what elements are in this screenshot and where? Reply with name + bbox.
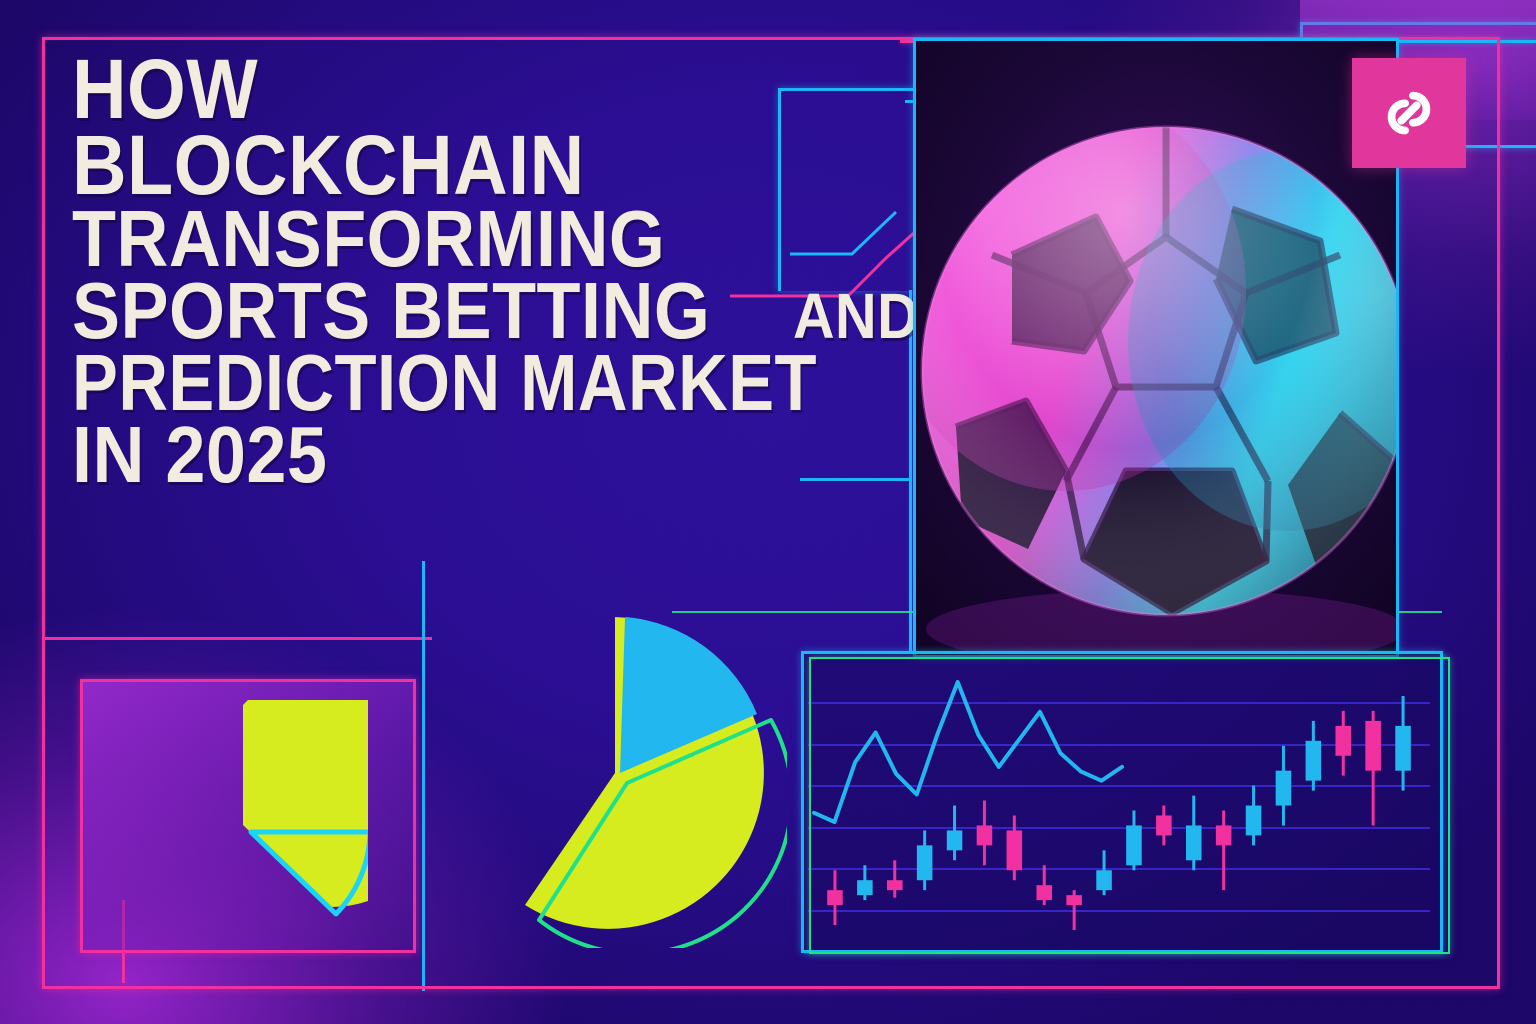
page-title: HOW BLOCKCHAIN TRANSFORMING SPORTS BETTI… bbox=[72, 52, 872, 491]
headline-line-3: TRANSFORMING bbox=[72, 203, 872, 275]
soccer-ball-icon bbox=[916, 41, 1396, 655]
headline-line-1: HOW bbox=[72, 52, 872, 128]
headline-line-4: SPORTS BETTINGAND bbox=[72, 275, 872, 347]
poster-canvas: HOW BLOCKCHAIN TRANSFORMING SPORTS BETTI… bbox=[0, 0, 1536, 1024]
headline-line-6: IN 2025 bbox=[72, 419, 872, 491]
hero-image-panel bbox=[913, 38, 1399, 658]
link-badge[interactable] bbox=[1352, 58, 1466, 168]
pie-small-chart bbox=[118, 700, 368, 950]
candlestick-chart bbox=[804, 654, 1434, 944]
price-chart-panel bbox=[801, 651, 1443, 953]
headline-line-5: PREDICTION MARKET bbox=[72, 347, 872, 419]
link-chain-icon bbox=[1378, 82, 1440, 144]
pie-large-chart bbox=[447, 608, 787, 948]
headline-line-2: BLOCKCHAIN bbox=[72, 128, 872, 204]
